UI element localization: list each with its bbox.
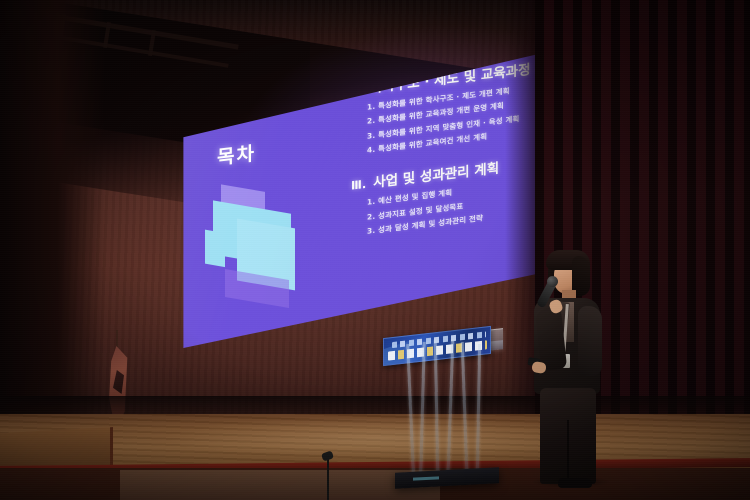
- stage-curtain-left: [0, 0, 105, 430]
- podium-base: [395, 467, 499, 488]
- podium-leg: [406, 344, 415, 472]
- microphone-head-icon: [547, 276, 558, 287]
- slide-title-label: 목차: [217, 139, 256, 171]
- toc-section-numeral: Ⅰ.: [351, 16, 360, 31]
- mic-stand-rod: [327, 458, 329, 500]
- podium-leg: [447, 340, 455, 472]
- mic-stand-head: [321, 450, 334, 461]
- speaker-trouser-seam: [567, 420, 569, 484]
- logo-shape: [205, 230, 225, 267]
- speaker-hand-holding-clicker: [531, 361, 546, 374]
- speaker-shoes: [558, 478, 592, 488]
- podium-leg: [461, 342, 469, 472]
- speaker: [520, 250, 612, 490]
- podium-leg: [476, 344, 481, 472]
- toc-section-numeral: Ⅱ.: [351, 82, 363, 97]
- acrylic-podium: [383, 316, 511, 488]
- toc-section-numeral: Ⅲ.: [351, 177, 366, 193]
- speaker-arm-right: [578, 306, 602, 376]
- slide-logo-mark: [195, 172, 315, 306]
- photo-scene: 목차 Ⅰ.지자체-대학 간 거버넌스 구축 및 특성화 방안 1. 지자체-대학…: [0, 0, 750, 500]
- floor-microphone-stand: [322, 452, 334, 498]
